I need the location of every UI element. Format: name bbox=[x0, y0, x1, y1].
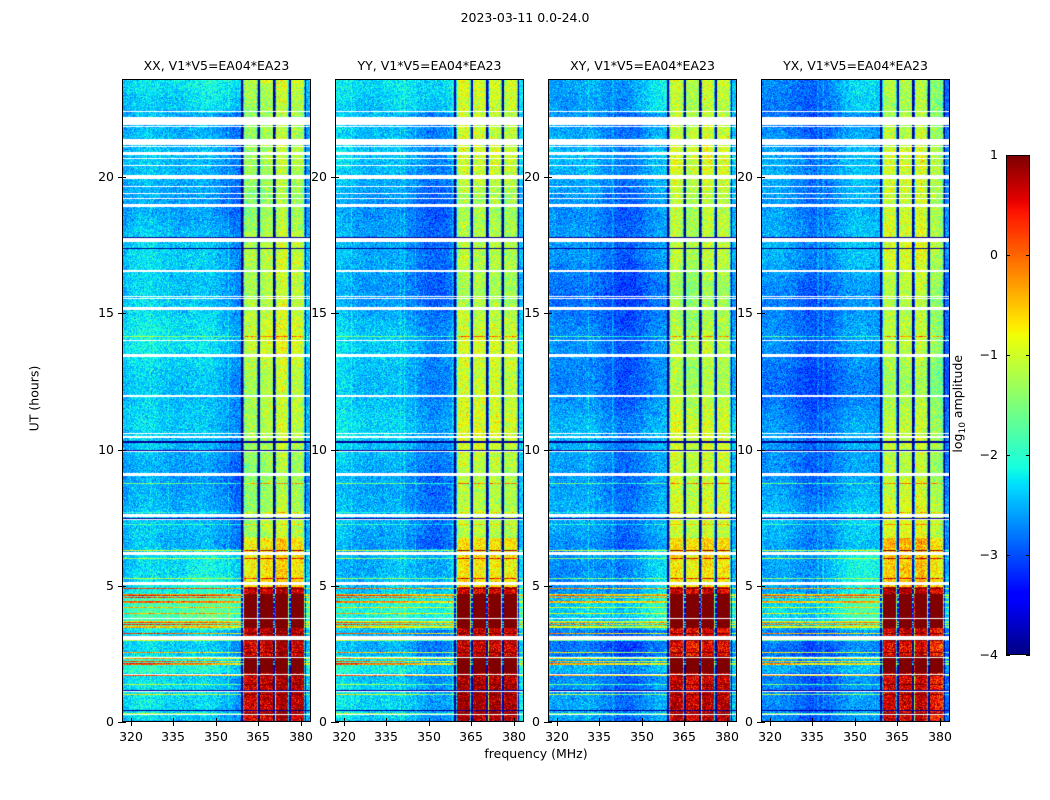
waterfall-image-yx bbox=[761, 79, 950, 722]
colorbar-tick-right bbox=[1026, 555, 1030, 556]
x-tick-outer bbox=[131, 722, 132, 726]
panel-title-xy: XY, V1*V5=EA04*EA23 bbox=[548, 58, 737, 73]
colorbar-tick bbox=[1006, 555, 1010, 556]
colorbar-label-subscript: 10 bbox=[958, 422, 968, 433]
colorbar-tick-label: −1 bbox=[958, 347, 998, 362]
x-tick-outer bbox=[344, 722, 345, 726]
y-tick bbox=[335, 722, 339, 723]
colorbar-tick-right bbox=[1026, 655, 1030, 656]
y-tick-label: 20 bbox=[715, 169, 753, 184]
y-tick bbox=[335, 450, 339, 451]
figure-suptitle: 2023-03-11 0.0-24.0 bbox=[0, 10, 1050, 25]
y-tick bbox=[122, 722, 126, 723]
y-tick bbox=[335, 177, 339, 178]
y-tick bbox=[122, 586, 126, 587]
y-tick-outer bbox=[118, 450, 122, 451]
y-tick-label: 20 bbox=[289, 169, 327, 184]
y-tick-label: 0 bbox=[289, 714, 327, 729]
y-tick-label: 0 bbox=[76, 714, 114, 729]
y-tick-label: 5 bbox=[715, 578, 753, 593]
y-tick-outer bbox=[757, 177, 761, 178]
colorbar-tick bbox=[1006, 355, 1010, 356]
y-tick bbox=[548, 722, 552, 723]
panel-xx[interactable]: XX, V1*V5=EA04*EA23320335350365380051015… bbox=[122, 79, 311, 722]
y-tick-label: 10 bbox=[289, 442, 327, 457]
y-tick bbox=[761, 177, 765, 178]
y-tick-outer bbox=[544, 586, 548, 587]
x-tick-outer bbox=[386, 722, 387, 726]
panel-xy[interactable]: XY, V1*V5=EA04*EA23320335350365380051015… bbox=[548, 79, 737, 722]
y-tick-label: 0 bbox=[715, 714, 753, 729]
y-tick-outer bbox=[544, 450, 548, 451]
waterfall-image-yy bbox=[335, 79, 524, 722]
x-tick-outer bbox=[429, 722, 430, 726]
y-tick-label: 15 bbox=[289, 305, 327, 320]
colorbar[interactable]: log10 amplitude 10−1−2−3−4 bbox=[1006, 155, 1030, 655]
figure-canvas: 2023-03-11 0.0-24.0 UT (hours) frequency… bbox=[0, 0, 1050, 800]
x-tick-outer bbox=[471, 722, 472, 726]
x-tick-outer bbox=[557, 722, 558, 726]
y-tick-label: 5 bbox=[502, 578, 540, 593]
y-tick-outer bbox=[331, 313, 335, 314]
y-tick bbox=[122, 177, 126, 178]
x-tick-outer bbox=[173, 722, 174, 726]
colorbar-tick bbox=[1006, 155, 1010, 156]
panel-yx[interactable]: YX, V1*V5=EA04*EA23320335350365380051015… bbox=[761, 79, 950, 722]
y-tick bbox=[122, 450, 126, 451]
y-tick-outer bbox=[118, 722, 122, 723]
x-tick-outer bbox=[684, 722, 685, 726]
colorbar-tick-label: 0 bbox=[958, 247, 998, 262]
waterfall-image-xy bbox=[548, 79, 737, 722]
y-tick-outer bbox=[118, 313, 122, 314]
y-tick-outer bbox=[118, 177, 122, 178]
x-tick-outer bbox=[897, 722, 898, 726]
panel-yy[interactable]: YY, V1*V5=EA04*EA23320335350365380051015… bbox=[335, 79, 524, 722]
colorbar-tick-label: −4 bbox=[958, 647, 998, 662]
x-axis-label: frequency (MHz) bbox=[236, 746, 836, 761]
y-tick-outer bbox=[331, 586, 335, 587]
y-tick-label: 20 bbox=[502, 169, 540, 184]
y-tick-outer bbox=[544, 313, 548, 314]
y-tick-outer bbox=[544, 722, 548, 723]
colorbar-tick-right bbox=[1026, 455, 1030, 456]
y-tick-label: 15 bbox=[502, 305, 540, 320]
y-tick-label: 15 bbox=[76, 305, 114, 320]
y-tick-outer bbox=[331, 722, 335, 723]
y-tick bbox=[122, 313, 126, 314]
y-tick-label: 5 bbox=[76, 578, 114, 593]
colorbar-tick-right bbox=[1026, 255, 1030, 256]
y-tick bbox=[548, 586, 552, 587]
y-tick-outer bbox=[331, 450, 335, 451]
x-tick-outer bbox=[812, 722, 813, 726]
colorbar-tick-right bbox=[1026, 155, 1030, 156]
colorbar-tick bbox=[1006, 455, 1010, 456]
x-tick-outer bbox=[940, 722, 941, 726]
x-tick-outer bbox=[258, 722, 259, 726]
x-tick-outer bbox=[770, 722, 771, 726]
y-tick bbox=[335, 313, 339, 314]
colorbar-tick bbox=[1006, 655, 1010, 656]
colorbar-gradient bbox=[1006, 155, 1030, 655]
y-tick-label: 5 bbox=[289, 578, 327, 593]
colorbar-tick bbox=[1006, 255, 1010, 256]
y-tick bbox=[548, 450, 552, 451]
colorbar-tick-label: −3 bbox=[958, 547, 998, 562]
y-tick bbox=[761, 450, 765, 451]
waterfall-image-xx bbox=[122, 79, 311, 722]
x-tick-outer bbox=[642, 722, 643, 726]
x-tick-outer bbox=[855, 722, 856, 726]
y-tick-outer bbox=[757, 586, 761, 587]
y-tick-label: 10 bbox=[76, 442, 114, 457]
y-tick-outer bbox=[544, 177, 548, 178]
y-tick bbox=[761, 722, 765, 723]
panel-title-yx: YX, V1*V5=EA04*EA23 bbox=[761, 58, 950, 73]
colorbar-tick-label: −2 bbox=[958, 447, 998, 462]
x-tick-label: 380 bbox=[915, 729, 965, 744]
y-tick-label: 0 bbox=[502, 714, 540, 729]
x-tick-outer bbox=[216, 722, 217, 726]
colorbar-tick-label: 1 bbox=[958, 147, 998, 162]
y-tick-label: 15 bbox=[715, 305, 753, 320]
y-tick-outer bbox=[757, 450, 761, 451]
y-tick bbox=[761, 313, 765, 314]
y-tick-label: 10 bbox=[502, 442, 540, 457]
y-tick-label: 10 bbox=[715, 442, 753, 457]
y-tick-outer bbox=[757, 722, 761, 723]
y-tick bbox=[335, 586, 339, 587]
y-tick bbox=[548, 313, 552, 314]
panel-title-yy: YY, V1*V5=EA04*EA23 bbox=[335, 58, 524, 73]
y-axis-label: UT (hours) bbox=[27, 318, 42, 478]
x-tick-outer bbox=[599, 722, 600, 726]
panel-title-xx: XX, V1*V5=EA04*EA23 bbox=[122, 58, 311, 73]
y-tick bbox=[761, 586, 765, 587]
y-tick-outer bbox=[118, 586, 122, 587]
y-tick-outer bbox=[757, 313, 761, 314]
colorbar-tick-right bbox=[1026, 355, 1030, 356]
colorbar-label-suffix: amplitude bbox=[950, 355, 965, 422]
y-tick-label: 20 bbox=[76, 169, 114, 184]
y-tick bbox=[548, 177, 552, 178]
y-tick-outer bbox=[331, 177, 335, 178]
colorbar-label: log10 amplitude bbox=[950, 319, 968, 489]
